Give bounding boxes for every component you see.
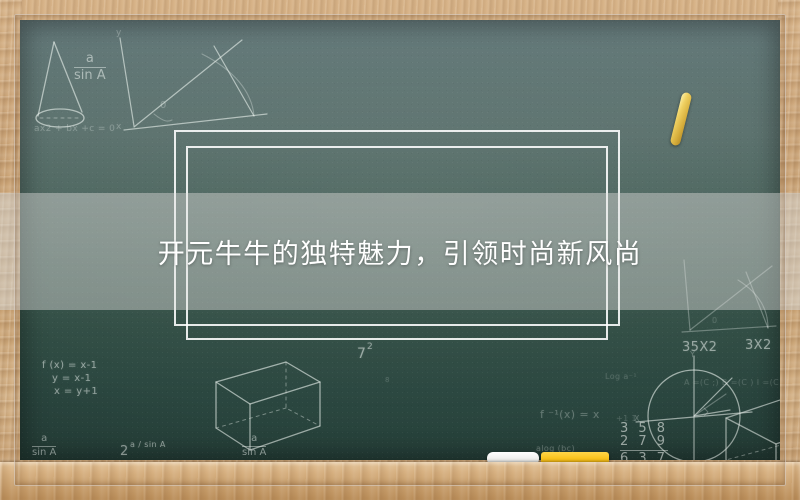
function-fx-text: f (x) = x-1 — [42, 360, 97, 371]
function-y-text: y = x-1 — [52, 373, 91, 384]
page-title: 开元牛牛的独特魅力，引领时尚新风尚 — [158, 232, 643, 271]
chalk-tray-ledge — [0, 462, 800, 500]
sum-rule-line — [620, 450, 668, 451]
cube-diagram-right-icon — [720, 386, 780, 460]
sine-rule-fraction-bottom-left: asin A — [32, 434, 56, 458]
axis-label-y-right: Y — [690, 350, 695, 359]
axis-label-y-topleft: y — [116, 28, 122, 38]
quadratic-equation-text: ax2 + bx +c = 0 — [34, 124, 115, 134]
sine-rule-fraction-topleft: a / sin A a sin A — [74, 52, 106, 82]
power-seven-text: 7 — [357, 346, 366, 362]
cube-diagram-left-icon — [208, 354, 328, 454]
cone-diagram-icon — [32, 38, 122, 148]
angle-label-zero-topleft: 0 — [160, 100, 167, 111]
function-x-text: x = y+1 — [54, 386, 98, 397]
sine-rule-fraction-bottom-center: asin A — [242, 434, 266, 458]
triangle-equation-text: 8 — [385, 376, 390, 384]
power-eight-text: 2 — [120, 444, 129, 459]
power-seven-exponent: 2 — [367, 342, 373, 352]
title-banner-band: 开元牛牛的独特魅力，引领时尚新风尚 — [0, 193, 800, 310]
inverse-function-text: f ⁻¹(x) = x — [540, 408, 600, 421]
sum-addend-one: 3 5 8 — [620, 422, 668, 435]
axis-label-x-right: X — [634, 414, 640, 423]
log-a-text: Log a⁻¹ — [605, 372, 637, 381]
sum-result-text: 6 3 7 — [620, 452, 668, 460]
multiplication-35x2-text: 35X2 — [682, 340, 717, 355]
sum-carry-text: +1 1 — [616, 414, 637, 423]
axis-label-x-topleft: x — [116, 122, 122, 132]
power-eight-exponent: a / sin A — [130, 440, 166, 449]
set-notation-text: A =(C ;) B =(C ) I =(C ) — [684, 378, 780, 387]
vertical-addition-block: 3 5 8 2 7 9 6 3 7 — [620, 422, 668, 460]
sum-addend-two: 2 7 9 — [620, 435, 668, 448]
angle-label-zero-right: 0 — [712, 316, 718, 325]
circle-axes-diagram-icon — [634, 350, 764, 460]
multiplication-3x2-text: 3X2 — [745, 338, 772, 353]
blackboard-banner-scene: a / sin A a sin A ax2 + bx +c = 0 y x 0 … — [0, 0, 800, 500]
